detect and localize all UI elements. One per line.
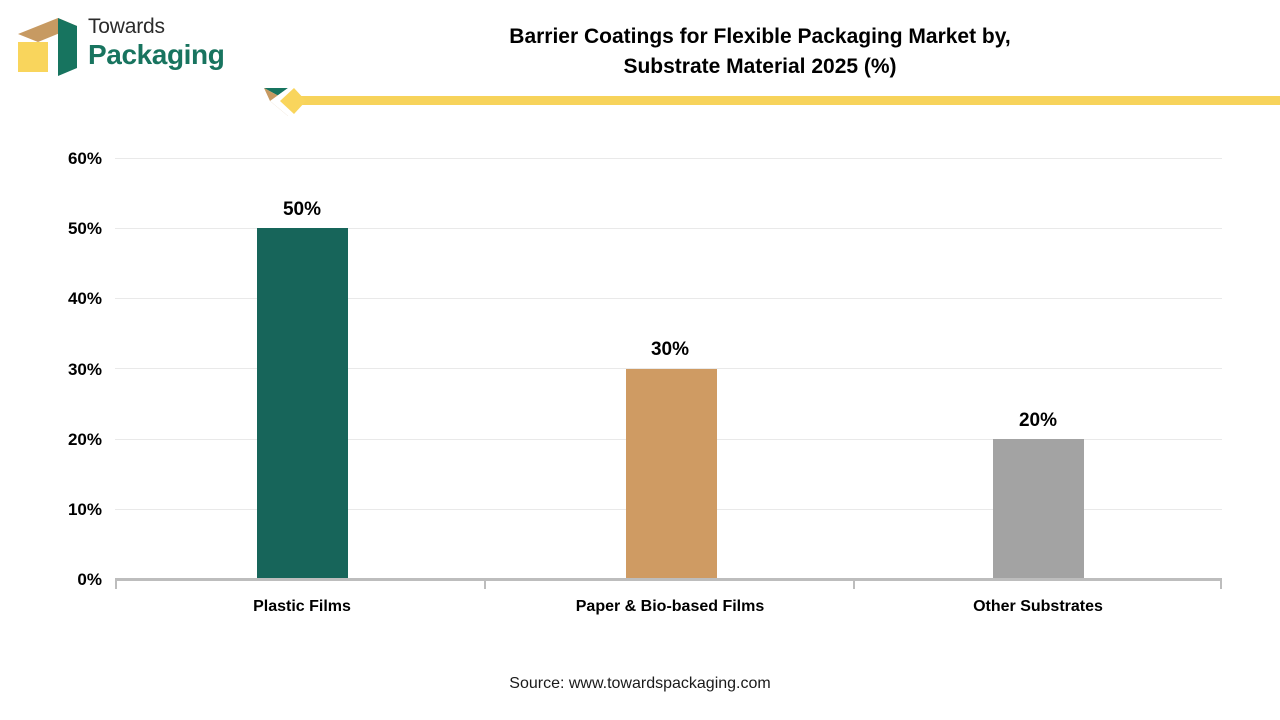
brand-name-line1: Towards	[88, 14, 258, 40]
y-axis-tick-label-30: 30%	[32, 361, 102, 378]
x-axis-category-label-other-substrates: Other Substrates	[916, 597, 1160, 617]
y-axis-tick-label-60: 60%	[32, 150, 102, 167]
chart-title-line2: Substrate Material 2025 (%)	[330, 52, 1190, 82]
x-axis-tick-3	[1220, 581, 1222, 589]
y-axis-tick-label-20: 20%	[32, 431, 102, 448]
bar-plastic-films[interactable]	[257, 228, 348, 580]
bar-value-label-other-substrates: 20%	[948, 410, 1128, 432]
brand-name-line2: Packaging	[88, 39, 258, 71]
y-axis-tick-label-40: 40%	[32, 290, 102, 307]
bar-paper-bio-based-films[interactable]	[626, 369, 717, 580]
y-axis-tick-label-0: 0%	[32, 571, 102, 588]
brand-wordmark: Towards Packaging	[88, 14, 258, 78]
source-note: Source: www.towardspackaging.com	[0, 675, 1280, 693]
chevron-left-accent-icon	[244, 86, 310, 120]
divider-line	[286, 96, 1280, 105]
bar-other-substrates[interactable]	[993, 439, 1084, 580]
x-axis-baseline	[115, 578, 1222, 581]
chart-title-line1: Barrier Coatings for Flexible Packaging …	[330, 22, 1190, 52]
chart-title: Barrier Coatings for Flexible Packaging …	[330, 22, 1190, 82]
packaging-box-icon	[14, 16, 78, 78]
x-axis-category-label-paper-bio-based-films: Paper & Bio-based Films	[548, 597, 792, 617]
gridline-60	[115, 158, 1222, 159]
chart-plot-area	[115, 158, 1222, 580]
x-axis-tick-2	[853, 581, 855, 589]
x-axis-category-label-plastic-films: Plastic Films	[180, 597, 424, 617]
x-axis-tick-0	[115, 581, 117, 589]
y-axis-tick-label-10: 10%	[32, 501, 102, 518]
x-axis-tick-1	[484, 581, 486, 589]
bar-value-label-plastic-films: 50%	[212, 199, 392, 221]
bar-value-label-paper-bio-based-films: 30%	[580, 339, 760, 361]
header: Towards Packaging Barrier Coatings for F…	[0, 0, 1280, 95]
header-divider	[0, 86, 1280, 122]
brand-logo[interactable]: Towards Packaging	[14, 14, 254, 80]
y-axis-tick-label-50: 50%	[32, 220, 102, 237]
